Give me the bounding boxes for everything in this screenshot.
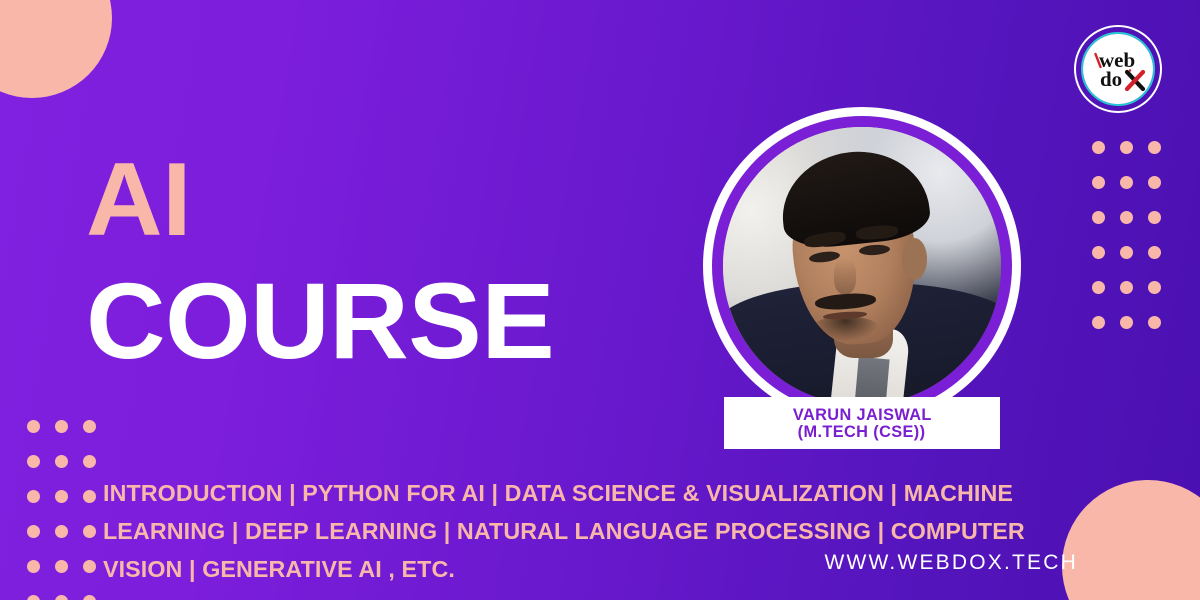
- dot: [27, 490, 40, 503]
- dot: [1148, 211, 1161, 224]
- dot: [83, 525, 96, 538]
- ai-course-banner: AI COURSE VARUN JAISWAL (M.TECH (CSE: [0, 0, 1200, 600]
- dot: [1092, 281, 1105, 294]
- dot: [1092, 176, 1105, 189]
- dot: [1120, 246, 1133, 259]
- website-url[interactable]: WWW.WEBDOX.TECH: [825, 551, 1078, 575]
- dot: [83, 420, 96, 433]
- headline-line-course: COURSE: [86, 271, 657, 371]
- dot: [1148, 176, 1161, 189]
- dot: [1120, 211, 1133, 224]
- dot: [55, 525, 68, 538]
- dot: [27, 455, 40, 468]
- dot: [55, 595, 68, 600]
- dot: [1092, 316, 1105, 329]
- dot: [1092, 246, 1105, 259]
- corner-circle-bottom-right: [1062, 480, 1200, 600]
- dot: [1148, 141, 1161, 154]
- dot: [83, 455, 96, 468]
- webdox-logo[interactable]: web do: [1074, 25, 1162, 113]
- logo-disc: web do: [1083, 34, 1153, 104]
- svg-text:do: do: [1100, 67, 1122, 91]
- dot: [1120, 281, 1133, 294]
- headline-line-ai: AI: [86, 152, 657, 249]
- dot: [27, 560, 40, 573]
- dot: [1148, 281, 1161, 294]
- dot: [83, 595, 96, 600]
- dot: [83, 490, 96, 503]
- dot: [1120, 316, 1133, 329]
- instructor-name: VARUN JAISWAL: [793, 406, 932, 424]
- dot: [1120, 141, 1133, 154]
- dot: [55, 490, 68, 503]
- instructor-qualification: (M.TECH (CSE)): [798, 423, 926, 441]
- photo-beard: [812, 316, 879, 341]
- dot: [55, 420, 68, 433]
- photo-nose: [834, 258, 856, 294]
- dot: [1092, 211, 1105, 224]
- logo-mark-icon: web do: [1083, 34, 1153, 104]
- dot-grid-right: [1092, 141, 1176, 351]
- dot: [27, 595, 40, 600]
- dot: [1148, 316, 1161, 329]
- avatar: [723, 127, 1001, 405]
- instructor-portrait: [703, 107, 1021, 425]
- dot: [1148, 246, 1161, 259]
- dot: [55, 455, 68, 468]
- dot: [27, 420, 40, 433]
- dot: [1120, 176, 1133, 189]
- dot: [1092, 141, 1105, 154]
- dot: [83, 560, 96, 573]
- corner-circle-top-left: [0, 0, 112, 98]
- instructor-name-plate: VARUN JAISWAL (M.TECH (CSE)): [724, 397, 1000, 449]
- dot: [55, 560, 68, 573]
- dot: [27, 525, 40, 538]
- page-title: AI COURSE: [86, 152, 646, 371]
- dot-grid-left: [27, 420, 111, 600]
